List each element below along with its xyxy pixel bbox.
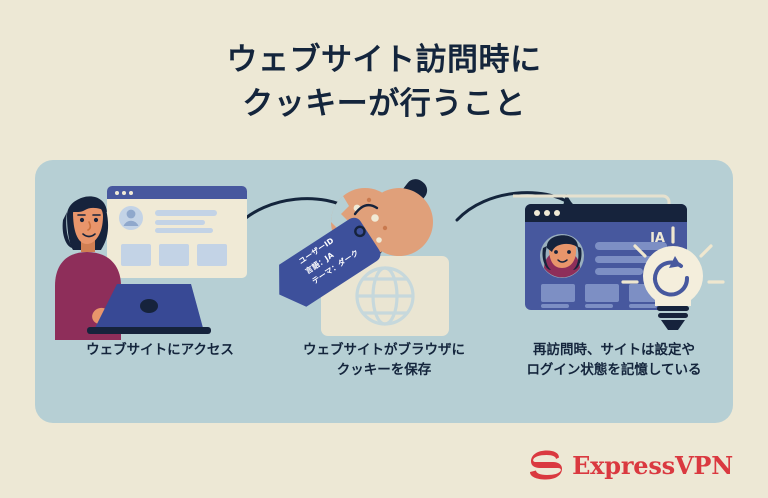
illustration-returning-visit: JA <box>495 160 733 340</box>
bulb-base <box>657 306 689 330</box>
steps-panel: ウェブサイトにアクセス <box>35 160 733 423</box>
caption-line-2: クッキーを保存 <box>273 360 495 380</box>
expressvpn-logo[interactable]: ExpressVPN <box>529 450 733 480</box>
infographic-canvas: ウェブサイト訪問時に クッキーが行うこと <box>0 0 768 498</box>
caption-line-1: ウェブサイトがブラウザに <box>273 340 495 360</box>
step-store-cookie: ユーザーID 言語：JA テーマ：ダーク ウェブサイトがブラウザに クッキーを保… <box>273 160 495 423</box>
caption-line-1: ウェブサイトにアクセス <box>45 340 275 360</box>
page-title-line-2: クッキーが行うこと <box>0 82 768 126</box>
step-caption: ウェブサイトがブラウザに クッキーを保存 <box>273 340 495 381</box>
caption-line-1: 再訪問時、サイトは設定や <box>495 340 733 360</box>
page-title: ウェブサイト訪問時に クッキーが行うこと <box>0 38 768 126</box>
caption-line-2: ログイン状態を記憶している <box>495 360 733 380</box>
expressvpn-e-mark <box>529 450 563 480</box>
step-access-website: ウェブサイトにアクセス <box>45 160 275 423</box>
page-title-line-1: ウェブサイト訪問時に <box>0 38 768 82</box>
step-remember-settings: JA <box>495 160 733 423</box>
step-caption: ウェブサイトにアクセス <box>45 340 275 360</box>
illustration-person-at-laptop <box>45 160 275 340</box>
step-caption: 再訪問時、サイトは設定や ログイン状態を記憶している <box>495 340 733 381</box>
browser-window-light <box>107 186 247 278</box>
expressvpn-wordmark: ExpressVPN <box>572 451 733 480</box>
avatar <box>540 234 584 278</box>
